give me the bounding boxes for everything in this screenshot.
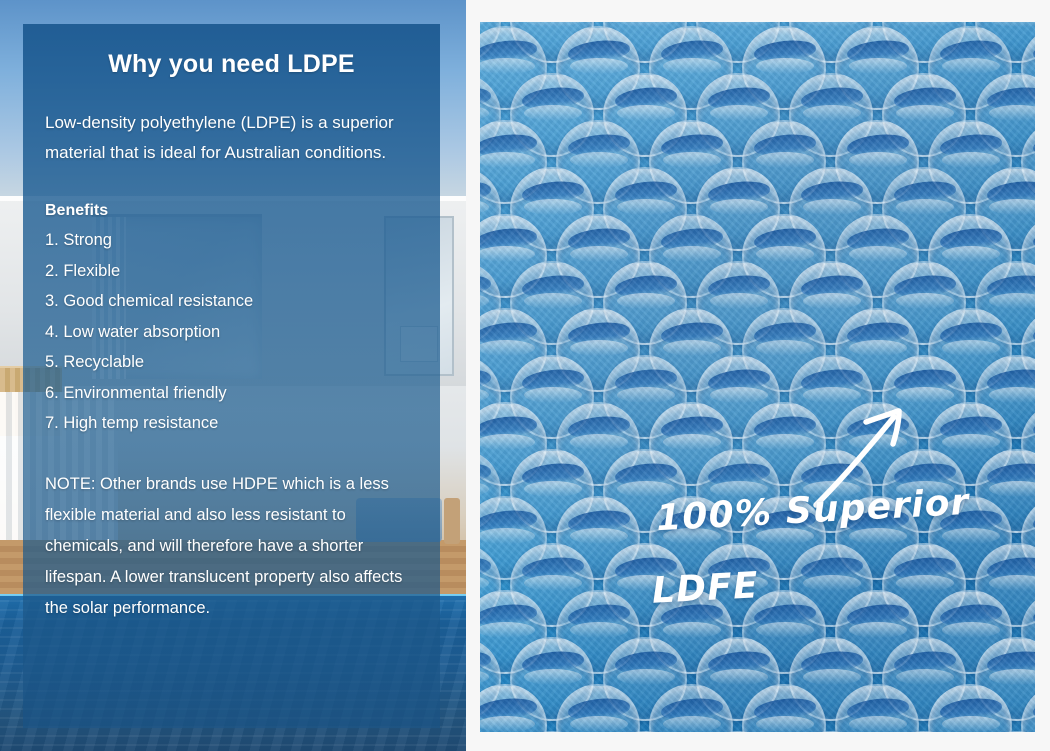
list-item: 6. Environmental friendly xyxy=(45,378,418,409)
ldpe-info-card: Why you need LDPE Low-density polyethyle… xyxy=(23,24,440,728)
note-paragraph: NOTE: Other brands use HDPE which is a l… xyxy=(45,469,418,624)
list-item: 1. Strong xyxy=(45,225,418,256)
list-item: 4. Low water absorption xyxy=(45,317,418,348)
left-photo-panel: Why you need LDPE Low-density polyethyle… xyxy=(0,0,466,751)
annotation-line-2: LDFE xyxy=(651,565,760,612)
list-item: 3. Good chemical resistance xyxy=(45,286,418,317)
page-title: Why you need LDPE xyxy=(45,50,418,79)
benefits-heading: Benefits xyxy=(45,196,418,225)
photo-lamp xyxy=(444,498,460,544)
list-item: 2. Flexible xyxy=(45,256,418,287)
annotation-line-1: 100% Superior xyxy=(655,482,970,539)
intro-paragraph: Low-density polyethylene (LDPE) is a sup… xyxy=(45,108,418,168)
annotation-layer: 100% Superior LDFE xyxy=(480,22,1035,732)
list-item: 7. High temp resistance xyxy=(45,408,418,439)
benefits-list: 1. Strong 2. Flexible 3. Good chemical r… xyxy=(45,225,418,439)
page-root: Why you need LDPE Low-density polyethyle… xyxy=(0,0,1050,751)
list-item: 5. Recyclable xyxy=(45,347,418,378)
right-photo-panel: 100% Superior LDFE xyxy=(480,22,1035,732)
